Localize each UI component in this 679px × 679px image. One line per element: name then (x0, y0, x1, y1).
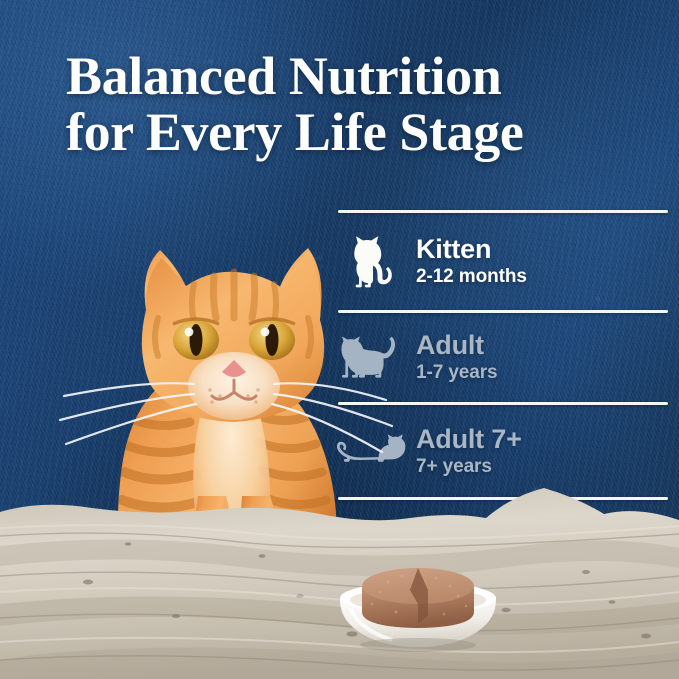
life-stage-row-kitten[interactable]: Kitten 2-12 months (338, 213, 668, 310)
page-title-line-1: Balanced Nutrition (66, 48, 646, 104)
life-stage-age-range: 1-7 years (416, 361, 498, 385)
page-title: Balanced Nutrition for Every Life Stage (66, 48, 646, 160)
life-stage-list: Kitten 2-12 months Adult 1-7 years (338, 210, 668, 500)
life-stage-label: Adult 7+ (416, 424, 522, 455)
life-stage-text-adult-7-plus: Adult 7+ 7+ years (416, 424, 522, 479)
life-stage-age-range: 2-12 months (416, 265, 527, 289)
food-bowl (336, 556, 500, 652)
life-stage-row-adult[interactable]: Adult 1-7 years (338, 313, 668, 402)
life-stage-age-range: 7+ years (416, 455, 522, 479)
life-stage-label: Adult (416, 330, 498, 361)
life-stage-text-kitten: Kitten 2-12 months (416, 234, 527, 289)
pet-food-lifestage-card: Balanced Nutrition for Every Life Stage … (0, 0, 679, 679)
page-title-line-2: for Every Life Stage (66, 104, 646, 160)
life-stage-label: Kitten (416, 234, 527, 265)
life-stage-text-adult: Adult 1-7 years (416, 330, 498, 385)
